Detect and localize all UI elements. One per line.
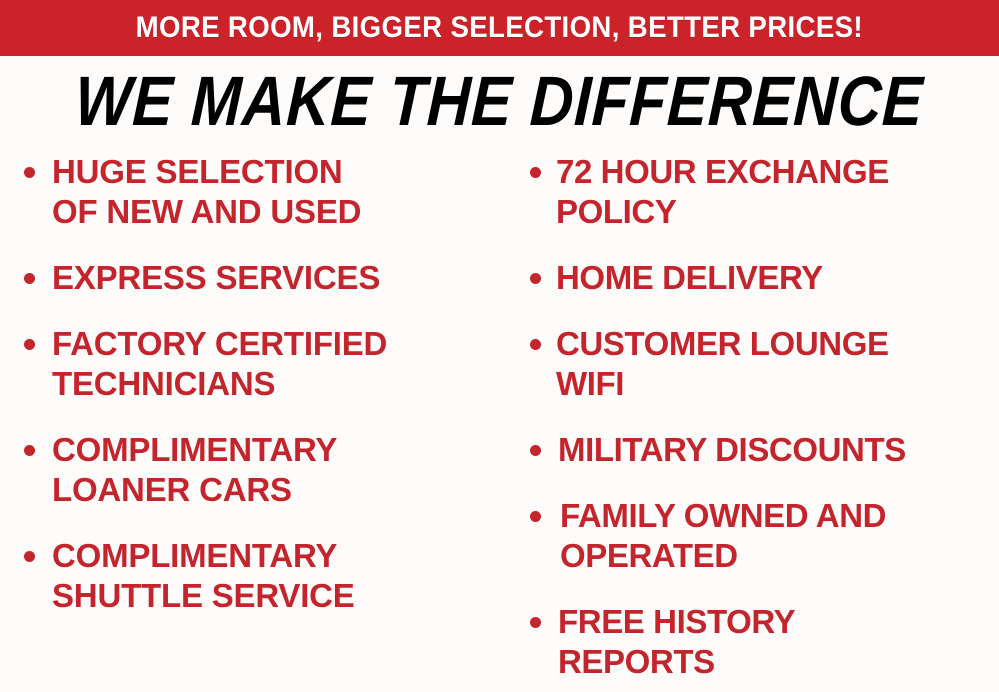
promo-banner-text: MORE ROOM, BIGGER SELECTION, BETTER PRIC… xyxy=(136,13,863,43)
benefits-columns: HUGE SELECTION OF NEW AND USED EXPRESS S… xyxy=(0,152,999,692)
headline-text: WE MAKE THE DIFFERENCE xyxy=(74,64,926,138)
top-promo-banner: MORE ROOM, BIGGER SELECTION, BETTER PRIC… xyxy=(0,0,999,56)
benefit-list-left: HUGE SELECTION OF NEW AND USED EXPRESS S… xyxy=(14,152,494,616)
list-item: CUSTOMER LOUNGE WIFI xyxy=(518,324,995,404)
list-item: 72 HOUR EXCHANGE POLICY xyxy=(518,152,995,232)
advertisement-banner: MORE ROOM, BIGGER SELECTION, BETTER PRIC… xyxy=(0,0,999,692)
benefit-list-right: 72 HOUR EXCHANGE POLICY HOME DELIVERY CU… xyxy=(518,152,995,682)
benefits-column-right: 72 HOUR EXCHANGE POLICY HOME DELIVERY CU… xyxy=(500,152,999,692)
list-item: HOME DELIVERY xyxy=(518,258,995,298)
list-item: COMPLIMENTARY LOANER CARS xyxy=(14,430,494,510)
headline: WE MAKE THE DIFFERENCE xyxy=(0,64,999,138)
benefits-column-left: HUGE SELECTION OF NEW AND USED EXPRESS S… xyxy=(0,152,500,692)
list-item: EXPRESS SERVICES xyxy=(14,258,494,298)
list-item: FACTORY CERTIFIED TECHNICIANS xyxy=(14,324,494,404)
list-item: MILITARY DISCOUNTS xyxy=(518,430,995,470)
list-item: FREE HISTORY REPORTS xyxy=(518,602,995,682)
list-item: COMPLIMENTARY SHUTTLE SERVICE xyxy=(14,536,494,616)
list-item: FAMILY OWNED AND OPERATED xyxy=(518,496,995,576)
list-item: HUGE SELECTION OF NEW AND USED xyxy=(14,152,494,232)
